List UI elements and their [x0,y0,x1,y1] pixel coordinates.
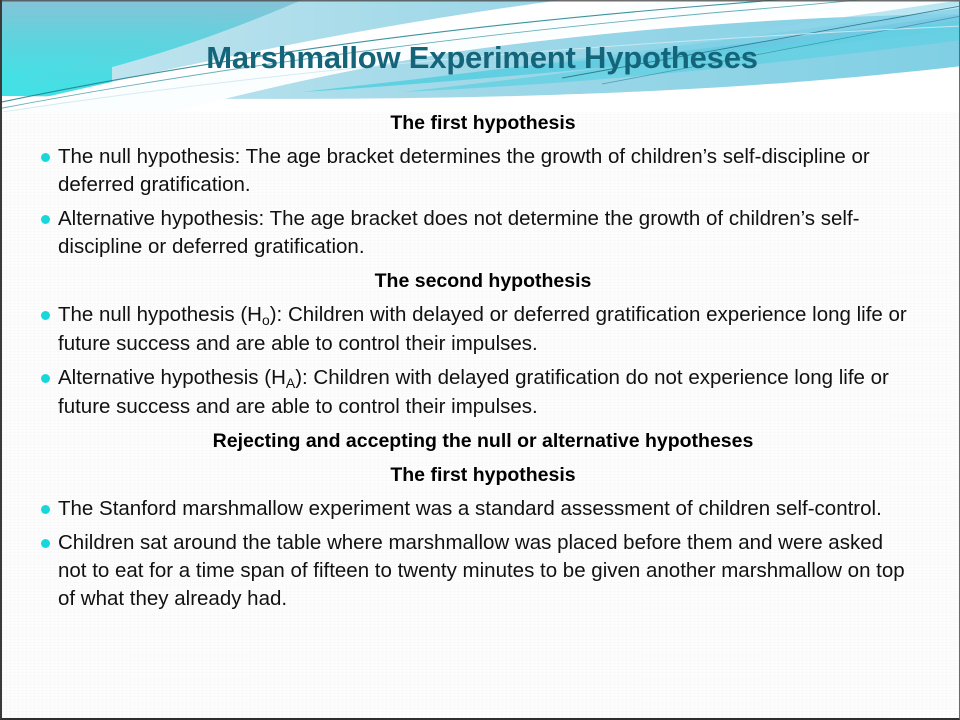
bullet-dot-shape [41,539,50,548]
bullet-list-item: Alternative hypothesis (HA): Children wi… [32,361,934,424]
section-heading: The second hypothesis [32,264,934,298]
bullet-text: The Stanford marshmallow experiment was … [58,495,934,523]
section-heading: The first hypothesis [32,458,934,492]
bullet-list-item: The null hypothesis: The age bracket det… [32,140,934,202]
bullet-dot-icon [32,143,58,162]
bullet-text: Children sat around the table where mars… [58,529,934,613]
bullet-dot-icon [32,495,58,514]
bullet-text-subscript: o [262,312,270,328]
bullet-dot-shape [41,153,50,162]
slide-title: Marshmallow Experiment Hypotheses [206,40,758,76]
slide-title-container: Marshmallow Experiment Hypotheses [2,40,960,76]
bullet-dot-shape [41,505,50,514]
bullet-dot-icon [32,529,58,548]
bullet-list-item: The null hypothesis (Ho): Children with … [32,298,934,361]
bullet-text: Alternative hypothesis (HA): Children wi… [58,364,934,421]
slide-body: The first hypothesisThe null hypothesis:… [2,106,960,616]
section-heading: Rejecting and accepting the null or alte… [32,424,934,458]
bullet-text: The null hypothesis (Ho): Children with … [58,301,934,358]
bullet-dot-icon [32,301,58,320]
bullet-list-item: Alternative hypothesis: The age bracket … [32,202,934,264]
bullet-dot-shape [41,215,50,224]
presentation-slide: Marshmallow Experiment Hypotheses The fi… [0,0,960,720]
bullet-dot-icon [32,364,58,383]
bullet-dot-shape [41,374,50,383]
bullet-list-item: Children sat around the table where mars… [32,526,934,616]
bullet-text: Alternative hypothesis: The age bracket … [58,205,934,261]
bullet-text-pre: Alternative hypothesis (H [58,366,286,389]
section-heading: The first hypothesis [32,106,934,140]
bullet-text-subscript: A [286,375,295,391]
bullet-dot-icon [32,205,58,224]
bullet-list-item: The Stanford marshmallow experiment was … [32,492,934,526]
bullet-text: The null hypothesis: The age bracket det… [58,143,934,199]
bullet-dot-shape [41,311,50,320]
bullet-text-pre: The null hypothesis (H [58,303,262,326]
